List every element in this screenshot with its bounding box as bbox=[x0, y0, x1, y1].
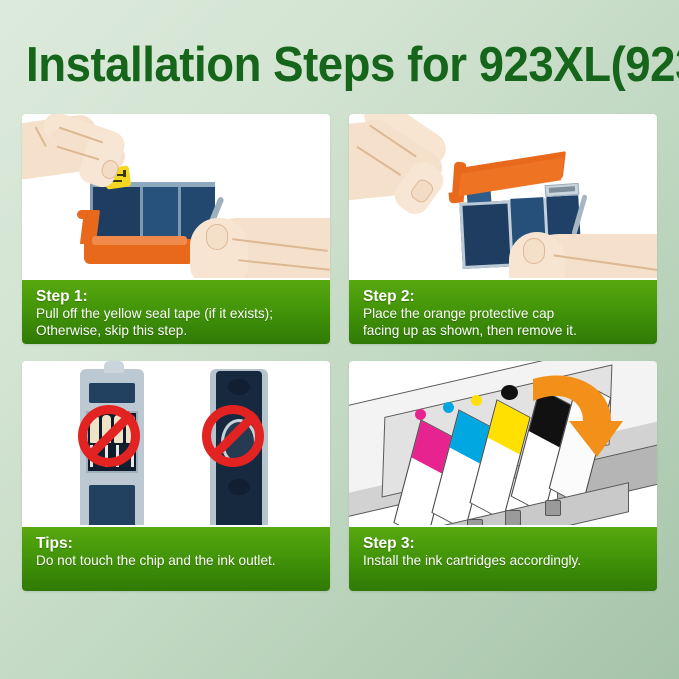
cartridge-left-top-nub bbox=[104, 361, 124, 373]
slot-latch bbox=[545, 500, 561, 516]
caption-step-3: Step 3: Install the ink cartridges accor… bbox=[349, 527, 657, 591]
caption-step-1: Step 1: Pull off the yellow seal tape (i… bbox=[22, 280, 330, 344]
cartridge-left-window-bottom bbox=[89, 485, 135, 527]
cartridge-right-marking bbox=[228, 379, 250, 395]
slot-color-dot-yellow bbox=[471, 395, 482, 406]
panel-tips: Tips: Do not touch the chip and the ink … bbox=[22, 361, 330, 591]
slot-latch bbox=[467, 519, 483, 527]
instruction-panel-grid: Step 1: Pull off the yellow seal tape (i… bbox=[22, 114, 657, 620]
caption-line: Otherwise, skip this step. bbox=[36, 323, 330, 340]
caption-line: Place the orange protective cap bbox=[363, 306, 657, 323]
slot-color-dot-black bbox=[501, 385, 518, 400]
caption-line: Do not touch the chip and the ink outlet… bbox=[36, 553, 330, 570]
panel-step-3: Step 3: Install the ink cartridges accor… bbox=[349, 361, 657, 591]
cartridge-right-marking bbox=[228, 479, 250, 495]
hand-right-thumbnail bbox=[523, 238, 545, 264]
panel-step-1: Step 1: Pull off the yellow seal tape (i… bbox=[22, 114, 330, 344]
insert-direction-arrow-icon bbox=[527, 373, 623, 459]
illustration-step-3 bbox=[349, 361, 657, 527]
no-touch-ink-outlet-icon bbox=[202, 405, 264, 467]
hand-crease-line bbox=[559, 279, 657, 280]
slot-color-dot-cyan bbox=[443, 402, 454, 413]
panel-step-2: Step 2: Place the orange protective cap … bbox=[349, 114, 657, 344]
caption-title: Step 3: bbox=[363, 534, 657, 553]
page-title: Installation Steps for 923XL(923e) bbox=[26, 34, 621, 96]
illustration-tips bbox=[22, 361, 330, 527]
caption-step-2: Step 2: Place the orange protective cap … bbox=[349, 280, 657, 344]
illustration-step-1 bbox=[22, 114, 330, 280]
cartridge-orange-base-highlight bbox=[92, 236, 187, 245]
hand-right-thumbnail bbox=[206, 224, 228, 250]
caption-line: Install the ink cartridges accordingly. bbox=[363, 553, 657, 570]
caption-title: Step 1: bbox=[36, 287, 330, 306]
illustration-step-2 bbox=[349, 114, 657, 280]
caption-title: Tips: bbox=[36, 534, 330, 553]
hand-crease-line bbox=[246, 279, 326, 280]
caption-line: Pull off the yellow seal tape (if it exi… bbox=[36, 306, 330, 323]
cartridge-left-window-top bbox=[89, 383, 135, 403]
cartridge-orange-hook-tip bbox=[77, 210, 99, 219]
yellow-seal-tape-mark bbox=[123, 170, 126, 177]
caption-line: facing up as shown, then remove it. bbox=[363, 323, 657, 340]
no-touch-chip-icon bbox=[78, 405, 140, 467]
caption-tips: Tips: Do not touch the chip and the ink … bbox=[22, 527, 330, 591]
slot-latch bbox=[505, 510, 521, 526]
caption-title: Step 2: bbox=[363, 287, 657, 306]
